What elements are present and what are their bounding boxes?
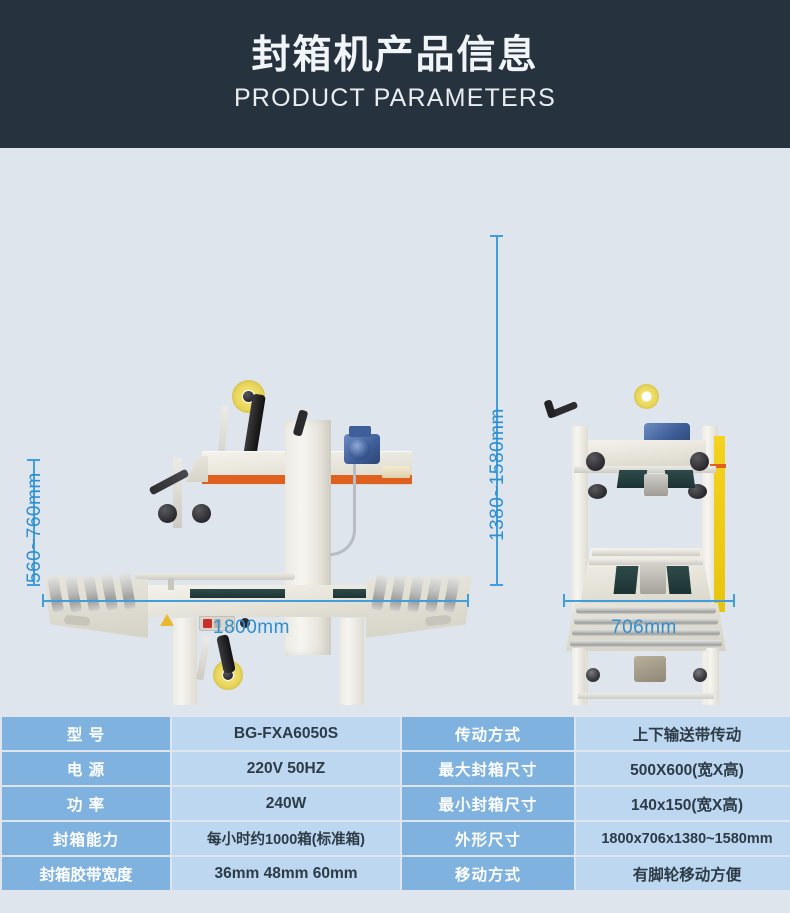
dimension-label-front-width: 1800mm xyxy=(213,617,290,639)
spec-label-min-carton-size: 最小封箱尺寸 xyxy=(402,787,574,820)
side-lower-belt-right xyxy=(667,566,692,594)
side-tape-roll xyxy=(634,384,659,409)
table-row: 封箱能力 每小时约1000箱(标准箱) 外形尺寸 1800x706x1380~1… xyxy=(2,822,790,855)
side-upper-belt-left xyxy=(617,470,648,488)
side-lower-belt-left xyxy=(614,566,639,594)
table-row: 功 率 240W 最小封箱尺寸 140x150(宽X高) xyxy=(2,787,790,820)
side-upper-belt-right xyxy=(665,470,696,488)
leg-front-right xyxy=(340,618,364,705)
spec-value-mobility: 有脚轮移动方便 xyxy=(576,857,790,890)
motor-fan-cover xyxy=(348,438,370,460)
side-caster-left-rear xyxy=(586,668,600,682)
page-header: 封箱机产品信息 PRODUCT PARAMETERS xyxy=(0,0,790,148)
table-row: 电 源 220V 50HZ 最大封箱尺寸 500X600(宽X高) xyxy=(2,752,790,785)
conveyor-belt-left xyxy=(190,589,285,598)
warning-label-upper xyxy=(382,466,410,478)
spec-value-min-carton-size: 140x150(宽X高) xyxy=(576,787,790,820)
spec-value-drive-type: 上下输送带传动 xyxy=(576,717,790,750)
spec-value-tape-width: 36mm 48mm 60mm xyxy=(172,857,400,890)
spec-value-model: BG-FXA6050S xyxy=(172,717,400,750)
dimension-cap-side-width-left xyxy=(563,594,565,607)
side-deck-roller-a xyxy=(592,550,700,556)
dimension-label-side-width: 706mm xyxy=(611,617,677,639)
side-caster-right-rear xyxy=(693,668,707,682)
dimension-label-front-height: 560~760mm xyxy=(24,472,46,583)
center-column xyxy=(285,420,331,655)
dimension-line-side-width xyxy=(563,600,735,602)
side-adjuster-left xyxy=(588,484,607,499)
dimension-cap-side-height-bottom xyxy=(490,584,503,586)
spec-value-capacity: 每小时约1000箱(标准箱) xyxy=(172,822,400,855)
spec-label-tape-width: 封箱胶带宽度 xyxy=(2,857,170,890)
side-gearbox xyxy=(634,656,666,682)
dimension-cap-front-height-bottom xyxy=(27,584,40,586)
deck-rail-post xyxy=(168,578,174,590)
dimension-label-side-height: 1380~1580mm xyxy=(487,408,509,541)
side-head-housing xyxy=(588,440,706,466)
caution-triangle-icon xyxy=(160,614,174,626)
dimension-cap-front-width-right xyxy=(467,594,469,607)
dimension-cap-side-height-top xyxy=(490,235,503,237)
air-hose xyxy=(330,464,356,556)
spec-value-power-supply: 220V 50HZ xyxy=(172,752,400,785)
side-roller-4 xyxy=(570,640,722,647)
leg-front-left xyxy=(173,618,197,705)
side-knob-left xyxy=(586,452,605,471)
table-row: 封箱胶带宽度 36mm 48mm 60mm 移动方式 有脚轮移动方便 xyxy=(2,857,790,890)
dimension-cap-side-width-right xyxy=(733,594,735,607)
side-guide-knob-a xyxy=(158,504,177,523)
spec-value-overall-dimensions: 1800x706x1380~1580mm xyxy=(576,822,790,855)
spec-value-max-carton-size: 500X600(宽X高) xyxy=(576,752,790,785)
side-base-crossbar xyxy=(578,693,714,699)
side-upper-tape-head xyxy=(644,474,668,496)
height-scale-strip xyxy=(714,436,725,612)
upper-head-left-taper xyxy=(186,456,208,482)
product-diagram-area: 560~760mm 1800mm 1380~1580mm 706mm xyxy=(0,148,790,705)
dimension-cap-front-height-top xyxy=(27,459,40,461)
side-knob-right xyxy=(690,452,709,471)
deck-cross-rail xyxy=(135,573,295,580)
dimension-cap-front-width-left xyxy=(42,594,44,607)
side-roller-1 xyxy=(576,607,716,614)
product-spec-table: 型 号 BG-FXA6050S 传动方式 上下输送带传动 电 源 220V 50… xyxy=(0,715,790,892)
side-guide-arm xyxy=(149,469,190,496)
page-subtitle-english: PRODUCT PARAMETERS xyxy=(234,84,556,113)
dimension-line-front-width xyxy=(42,600,469,602)
page-title-chinese: 封箱机产品信息 xyxy=(251,35,538,78)
motor-junction-box xyxy=(349,426,371,437)
side-guide-knob-b xyxy=(192,504,211,523)
leg-brace-left xyxy=(196,636,211,681)
spec-label-power-supply: 电 源 xyxy=(2,752,170,785)
spec-label-mobility: 移动方式 xyxy=(402,857,574,890)
spec-label-capacity: 封箱能力 xyxy=(2,822,170,855)
power-switch[interactable] xyxy=(203,619,212,628)
spec-label-drive-type: 传动方式 xyxy=(402,717,574,750)
spec-label-overall-dimensions: 外形尺寸 xyxy=(402,822,574,855)
table-row: 型 号 BG-FXA6050S 传动方式 上下输送带传动 xyxy=(2,717,790,750)
spec-label-power: 功 率 xyxy=(2,787,170,820)
spec-table-body: 型 号 BG-FXA6050S 传动方式 上下输送带传动 电 源 220V 50… xyxy=(2,717,790,890)
spec-label-max-carton-size: 最大封箱尺寸 xyxy=(402,752,574,785)
spec-label-model: 型 号 xyxy=(2,717,170,750)
side-lower-tape-head xyxy=(640,562,666,594)
spec-value-power: 240W xyxy=(172,787,400,820)
